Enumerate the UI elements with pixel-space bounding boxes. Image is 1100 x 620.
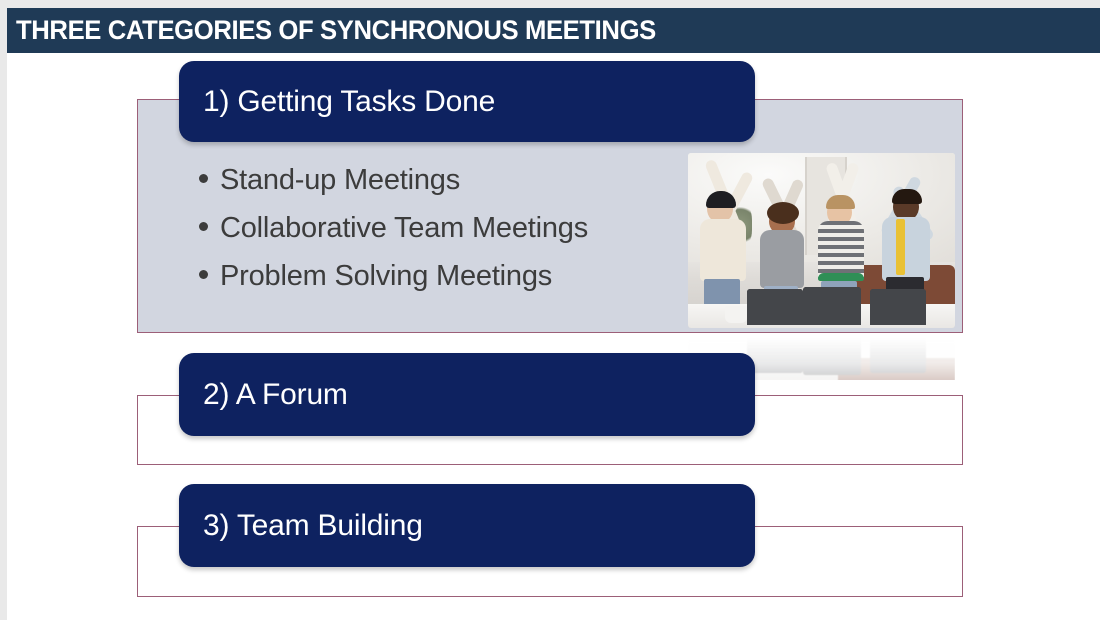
slide-canvas: THREE CATEGORIES OF SYNCHRONOUS MEETINGS xyxy=(0,0,1100,620)
category-1-bullet-list: Stand-up Meetings Collaborative Team Mee… xyxy=(199,156,588,300)
slide-left-edge xyxy=(0,0,7,620)
list-item: Problem Solving Meetings xyxy=(199,252,588,300)
bullet-dot-icon xyxy=(199,270,208,279)
category-header-3[interactable]: 3) Team Building xyxy=(179,484,755,567)
list-item: Stand-up Meetings xyxy=(199,156,588,204)
bullet-text: Problem Solving Meetings xyxy=(220,260,552,292)
slide-title-bar: THREE CATEGORIES OF SYNCHRONOUS MEETINGS xyxy=(7,8,1100,53)
category-header-1[interactable]: 1) Getting Tasks Done xyxy=(179,61,755,142)
bullet-text: Collaborative Team Meetings xyxy=(220,212,588,244)
slide-title: THREE CATEGORIES OF SYNCHRONOUS MEETINGS xyxy=(16,17,656,44)
slide-top-edge xyxy=(0,0,1100,8)
bullet-text: Stand-up Meetings xyxy=(220,164,460,196)
team-celebrating-photo xyxy=(688,153,955,328)
bullet-dot-icon xyxy=(199,222,208,231)
bullet-dot-icon xyxy=(199,174,208,183)
category-3-title: 3) Team Building xyxy=(203,511,423,541)
list-item: Collaborative Team Meetings xyxy=(199,204,588,252)
category-header-2[interactable]: 2) A Forum xyxy=(179,353,755,436)
category-1-title: 1) Getting Tasks Done xyxy=(203,87,495,117)
category-2-title: 2) A Forum xyxy=(203,380,348,410)
